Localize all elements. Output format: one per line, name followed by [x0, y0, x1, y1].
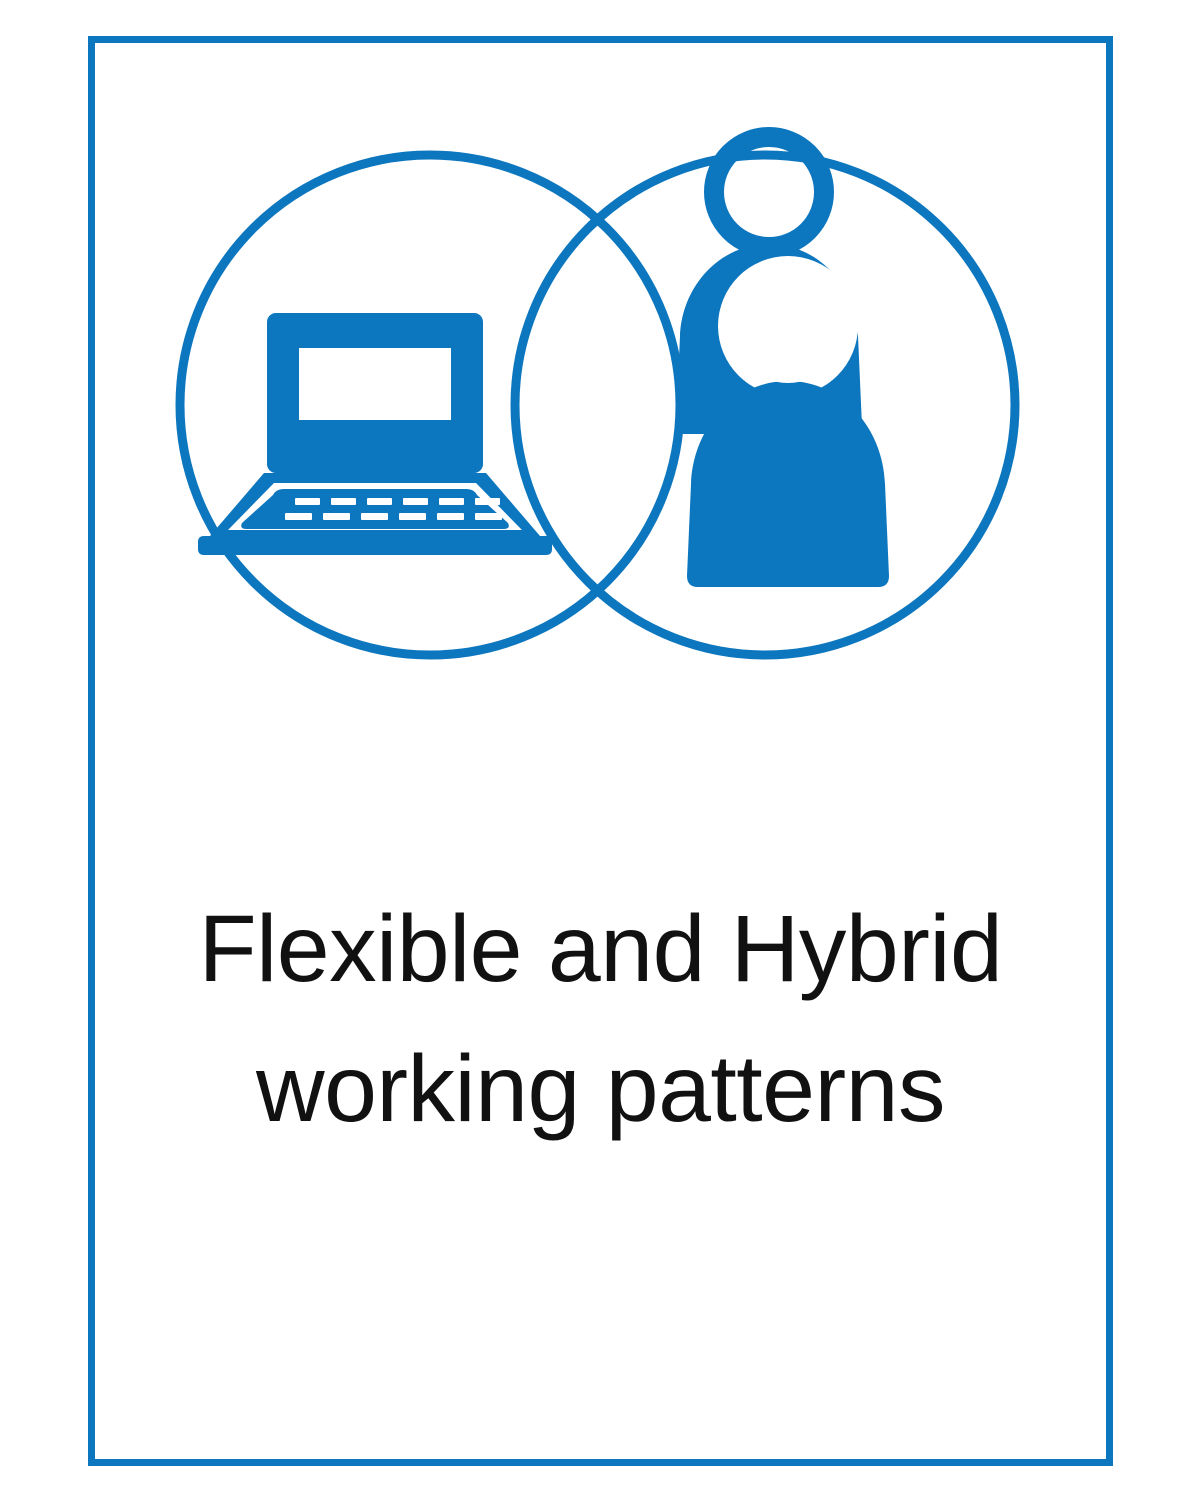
- laptop-base-bar: [198, 536, 552, 555]
- illustration-area: [88, 36, 1113, 866]
- venn-diagram-svg: [88, 36, 1113, 866]
- laptop-screen-glass: [299, 348, 451, 420]
- laptop-keyboard-deck: [241, 489, 509, 529]
- info-card: Flexible and Hybrid working patterns: [0, 0, 1200, 1500]
- caption-line-2: working patterns: [88, 1020, 1113, 1160]
- card-caption: Flexible and Hybrid working patterns: [88, 880, 1113, 1159]
- people-icon: [676, 137, 889, 587]
- person-front-head-inner: [731, 269, 845, 383]
- caption-line-1: Flexible and Hybrid: [88, 880, 1113, 1020]
- laptop-icon: [198, 313, 552, 555]
